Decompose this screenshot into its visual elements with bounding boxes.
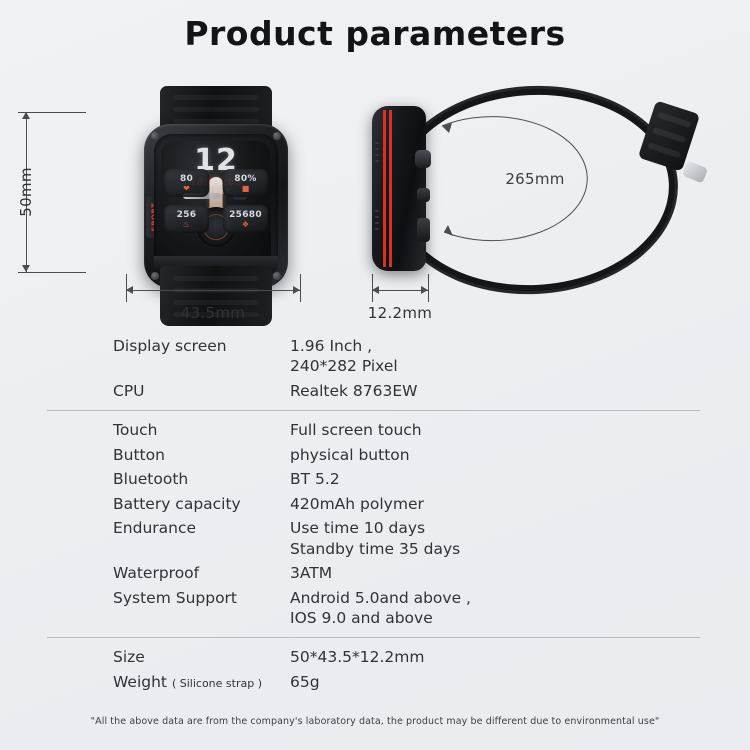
- spec-row: Bluetooth BT 5.2: [0, 469, 750, 489]
- spec-row: CPU Realtek 8763EW: [0, 381, 750, 401]
- spec-value: Full screen touch: [290, 420, 422, 440]
- spec-value: 420mAh polymer: [290, 494, 424, 514]
- spec-value-line2: Standby time 35 days: [290, 539, 460, 559]
- spec-row: Endurance Use time 10 days Standby time …: [0, 518, 750, 559]
- product-hero-images: SPORT 12 18:08:08 SMART 80 ❤ 8: [0, 78, 750, 333]
- spec-group-physical: Size 50*43.5*12.2mm Weight ( Silicone st…: [0, 647, 750, 692]
- watch-side-button-top: [417, 188, 430, 202]
- watch-buckle-pin: [682, 160, 708, 183]
- heart-icon: ❤: [183, 185, 190, 193]
- heartrate-value: 80: [180, 174, 193, 184]
- watch-face-widget-battery: 80% ■: [223, 169, 268, 197]
- dim-line-thickness: [372, 290, 428, 291]
- spec-group-features: Touch Full screen touch Button physical …: [0, 420, 750, 628]
- spec-divider: [47, 410, 700, 411]
- spec-value-line1: Use time 10 days: [290, 519, 425, 537]
- spec-value: Use time 10 days Standby time 35 days: [290, 518, 460, 559]
- spec-row: System Support Android 5.0and above , IO…: [0, 588, 750, 629]
- spec-row: Display screen 1.96 Inch , 240*282 Pixel: [0, 336, 750, 377]
- arrow-right-icon: [421, 286, 428, 294]
- spec-label: Waterproof: [0, 563, 290, 583]
- spec-value-line2: 240*282 Pixel: [290, 356, 398, 376]
- watch-face-widget-heartrate: 80 ❤: [164, 169, 209, 197]
- battery-value: 80%: [234, 174, 256, 184]
- spec-label-text: Weight: [113, 673, 167, 691]
- spec-value: 65g: [290, 672, 320, 692]
- steps-value: 25680: [229, 210, 262, 220]
- calories-value: 256: [177, 210, 197, 220]
- spec-label: CPU: [0, 381, 290, 401]
- arrow-right-icon: [293, 286, 300, 294]
- spec-row: Button physical button: [0, 445, 750, 465]
- strap-circumference-label: 265mm: [470, 170, 600, 188]
- spec-value: physical button: [290, 445, 410, 465]
- spec-value: Android 5.0and above , IOS 9.0 and above: [290, 588, 471, 629]
- red-accent-stripe: [383, 110, 386, 267]
- spec-label: Battery capacity: [0, 494, 290, 514]
- dim-guide-thickness-right: [428, 274, 429, 302]
- spec-label: Touch: [0, 420, 290, 440]
- spec-value-line1: Android 5.0and above ,: [290, 589, 471, 607]
- page-title: Product parameters: [0, 14, 750, 53]
- dim-guide-right: [300, 274, 301, 302]
- spec-divider: [47, 637, 700, 638]
- spec-row: Weight ( Silicone strap ) 65g: [0, 672, 750, 692]
- screw-icon: [273, 132, 281, 140]
- spec-row: Waterproof 3ATM: [0, 563, 750, 583]
- spec-row: Size 50*43.5*12.2mm: [0, 647, 750, 667]
- spec-value: BT 5.2: [290, 469, 340, 489]
- spec-label-note: ( Silicone strap ): [172, 677, 262, 690]
- arrow-left-icon: [372, 286, 379, 294]
- screw-icon: [273, 272, 281, 280]
- spec-label: Endurance: [0, 518, 290, 538]
- watch-side-button-bottom: [417, 218, 430, 242]
- spec-label: Size: [0, 647, 290, 667]
- flame-icon: ♨: [183, 221, 190, 229]
- spec-label: System Support: [0, 588, 290, 608]
- screw-icon: [151, 272, 159, 280]
- spec-label: Bluetooth: [0, 469, 290, 489]
- watch-screen: 12 18:08:08 SMART 80 ❤ 80% ■: [161, 141, 271, 271]
- dim-label-height: 50mm: [17, 158, 35, 226]
- red-accent-stripe: [389, 110, 392, 267]
- watch-face-widget-steps: 25680 ❖: [223, 205, 268, 233]
- watch-case-profile: [372, 106, 426, 271]
- spec-value: 50*43.5*12.2mm: [290, 647, 424, 667]
- footsteps-icon: ❖: [242, 221, 249, 229]
- spec-label: Display screen: [0, 336, 290, 356]
- spec-value-line1: 1.96 Inch ,: [290, 337, 372, 355]
- battery-icon: ■: [242, 185, 250, 193]
- watch-crown: [415, 150, 431, 168]
- spec-label: Weight ( Silicone strap ): [0, 672, 290, 692]
- spec-table: Display screen 1.96 Inch , 240*282 Pixel…: [0, 336, 750, 692]
- dim-label-width: 43.5mm: [126, 304, 300, 322]
- spec-row: Battery capacity 420mAh polymer: [0, 494, 750, 514]
- dim-guide-bottom: [18, 272, 86, 273]
- disclaimer-footnote: "All the above data are from the company…: [0, 716, 750, 727]
- spec-label: Button: [0, 445, 290, 465]
- dim-label-thickness: 12.2mm: [348, 304, 452, 322]
- arrow-left-icon: [126, 286, 133, 294]
- arrow-down-icon: [22, 265, 30, 272]
- spec-value: 1.96 Inch , 240*282 Pixel: [290, 336, 398, 377]
- spec-row: Touch Full screen touch: [0, 420, 750, 440]
- spec-value-line2: IOS 9.0 and above: [290, 608, 471, 628]
- dim-line-width: [126, 290, 300, 291]
- spec-group-display: Display screen 1.96 Inch , 240*282 Pixel…: [0, 336, 750, 401]
- spec-value: Realtek 8763EW: [290, 381, 418, 401]
- arrow-up-icon: [22, 112, 30, 119]
- spec-value: 3ATM: [290, 563, 332, 583]
- watch-face-widget-calories: 256 ♨: [164, 205, 209, 233]
